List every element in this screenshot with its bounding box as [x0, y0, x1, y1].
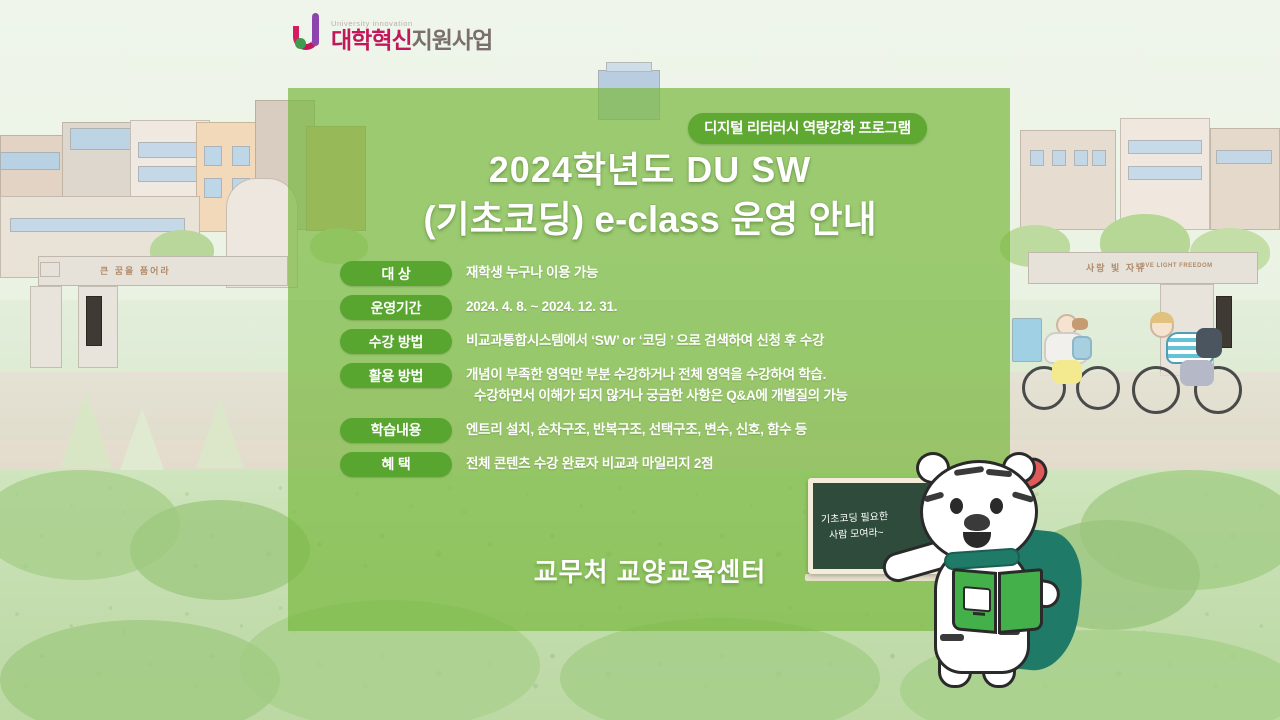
gate-pillar	[30, 286, 62, 368]
building	[1020, 130, 1116, 230]
logo-text-group: University innovation 대학혁신지원사업	[331, 20, 492, 53]
computer-icon	[963, 586, 991, 612]
cyclist-legs	[1180, 360, 1214, 386]
cyclist-hair	[1150, 312, 1174, 323]
building	[204, 146, 222, 166]
mascot-head	[920, 460, 1038, 564]
info-label-curriculum: 학습내용	[340, 418, 452, 443]
building	[0, 152, 60, 170]
backpack	[1072, 336, 1092, 360]
info-label-target: 대 상	[340, 261, 452, 286]
building	[70, 128, 134, 150]
info-value-period: 2024. 4. 8. ~ 2024. 12. 31.	[466, 295, 617, 318]
info-label-period: 운영기간	[340, 295, 452, 320]
cyclist-illustration	[1020, 300, 1130, 420]
building	[606, 62, 652, 72]
backpack	[1196, 328, 1222, 358]
program-badge: 디지털 리터러시 역량강화 프로그램	[688, 113, 927, 144]
logo-subtitle: University innovation	[331, 20, 492, 28]
info-value-curriculum: 엔트리 설치, 순차구조, 반복구조, 선택구조, 변수, 신호, 함수 등	[466, 418, 807, 441]
conifer-tree	[60, 392, 112, 468]
info-value-benefit: 전체 콘텐츠 수강 완료자 비교과 마일리지 2점	[466, 452, 713, 475]
mascot-nose	[964, 514, 990, 531]
page-title: 2024학년도 DU SW (기초코딩) e-class 운영 안내	[310, 146, 990, 245]
info-value-line: 개념이 부족한 영역만 부분 수강하거나 전체 영역을 수강하여 학습.	[466, 365, 848, 386]
cyclist-hair	[1072, 318, 1088, 330]
info-value-line: 전체 콘텐츠 수강 완료자 비교과 마일리지 2점	[466, 454, 713, 475]
info-value-enrollment-method: 비교과통합시스템에서 ‘SW’ or ‘코딩 ’ 으로 검색하여 신청 후 수강	[466, 329, 824, 352]
info-value-usage-method: 개념이 부족한 영역만 부분 수강하거나 전체 영역을 수강하여 학습. 수강하…	[466, 363, 848, 407]
info-value-line: 재학생 누구나 이용 가능	[466, 263, 598, 284]
info-row: 활용 방법 개념이 부족한 영역만 부분 수강하거나 전체 영역을 수강하여 학…	[340, 363, 970, 407]
building	[10, 218, 185, 232]
info-label-usage-method: 활용 방법	[340, 363, 452, 388]
info-row: 대 상 재학생 누구나 이용 가능	[340, 261, 970, 286]
mascot-body-stripe	[940, 634, 964, 641]
gate-emblem	[40, 262, 60, 277]
logo-dot-shape	[295, 38, 306, 49]
title-line-1: 2024학년도 DU SW	[310, 146, 990, 195]
info-row: 혜 택 전체 콘텐츠 수강 완료자 비교과 마일리지 2점	[340, 452, 970, 477]
info-table: 대 상 재학생 누구나 이용 가능 운영기간 2024. 4. 8. ~ 202…	[340, 261, 970, 486]
building	[1210, 128, 1280, 230]
poster-canvas: 큰 꿈을 품어라 사랑 빛 자유 LOVE LIGHT FREEDOM	[0, 0, 1280, 720]
building	[1128, 140, 1202, 154]
building	[204, 178, 222, 198]
logo-j-shape	[312, 16, 319, 46]
info-value-line: 수강하면서 이해가 되지 않거나 궁금한 사항은 Q&A에 개별질의 가능	[466, 386, 848, 407]
info-value-line: 2024. 4. 8. ~ 2024. 12. 31.	[466, 297, 617, 318]
info-value-target: 재학생 누구나 이용 가능	[466, 261, 598, 284]
info-value-line: 비교과통합시스템에서 ‘SW’ or ‘코딩 ’ 으로 검색하여 신청 후 수강	[466, 331, 824, 352]
building	[232, 146, 250, 166]
book-right-page	[998, 568, 1043, 634]
logo-title-part-b: 지원사업	[412, 27, 493, 53]
bicycle-wheel	[1132, 366, 1180, 414]
gate-right-label-en: LOVE LIGHT FREEDOM	[1136, 263, 1213, 269]
building	[1030, 150, 1044, 166]
building	[1092, 150, 1106, 166]
university-innovation-logo: University innovation 대학혁신지원사업	[293, 16, 492, 52]
mascot-eye	[950, 498, 963, 514]
gate-left-label: 큰 꿈을 품어라	[100, 264, 171, 277]
logo-title-part-a: 대학혁신	[331, 27, 412, 53]
info-label-benefit: 혜 택	[340, 452, 452, 477]
conifer-tree	[120, 408, 164, 470]
info-value-line: 엔트리 설치, 순차구조, 반복구조, 선택구조, 변수, 신호, 함수 등	[466, 420, 807, 441]
gate-sign	[86, 296, 102, 346]
shrub	[130, 500, 310, 600]
info-row: 운영기간 2024. 4. 8. ~ 2024. 12. 31.	[340, 295, 970, 320]
title-line-2: (기초코딩) e-class 운영 안내	[310, 195, 990, 245]
info-label-enrollment-method: 수강 방법	[340, 329, 452, 354]
info-row: 수강 방법 비교과통합시스템에서 ‘SW’ or ‘코딩 ’ 으로 검색하여 신…	[340, 329, 970, 354]
cyclist-illustration	[1128, 302, 1253, 424]
building	[1128, 166, 1202, 180]
logo-title: 대학혁신지원사업	[331, 29, 492, 52]
mascot-eye	[990, 498, 1003, 514]
bicycle-wheel	[1076, 366, 1120, 410]
book-left-page	[952, 568, 997, 634]
building	[138, 142, 204, 158]
conifer-tree	[196, 398, 244, 468]
building	[138, 166, 204, 182]
mascot-book	[952, 570, 1044, 632]
info-row: 학습내용 엔트리 설치, 순차구조, 반복구조, 선택구조, 변수, 신호, 함…	[340, 418, 970, 443]
building	[1052, 150, 1066, 166]
building	[1216, 150, 1272, 164]
tiger-mascot	[890, 438, 1105, 700]
building	[1074, 150, 1088, 166]
cyclist-legs	[1052, 360, 1082, 384]
logo-mark-icon	[293, 16, 327, 52]
